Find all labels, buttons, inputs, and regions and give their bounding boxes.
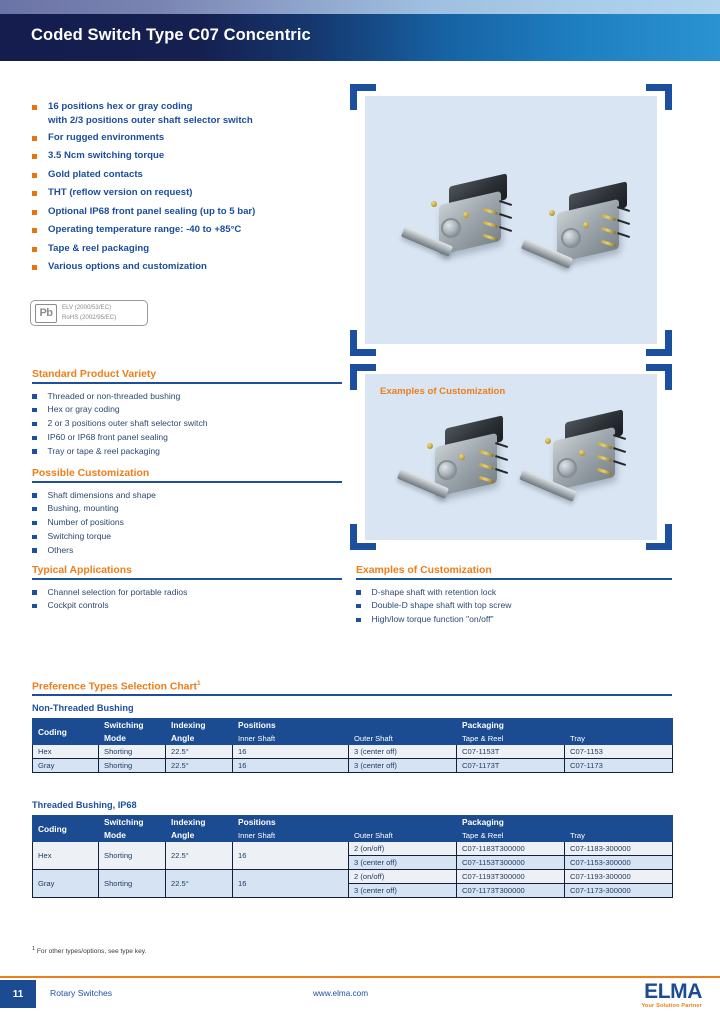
cell-switching-mode: Shorting bbox=[99, 759, 166, 773]
page-title: Coded Switch Type C07 Concentric bbox=[31, 26, 311, 45]
section-list-item: Double-D shape shaft with top screw bbox=[356, 599, 672, 612]
datasheet-page: Coded Switch Type C07 Concentric 16 posi… bbox=[0, 0, 720, 1012]
elma-logo: ELMA Your Solution Partner bbox=[641, 981, 702, 1009]
bullet-square-icon bbox=[32, 521, 37, 526]
cell-outer-shaft: 2 (on/off) bbox=[349, 870, 457, 884]
bullet-square-icon bbox=[32, 394, 37, 399]
feature-item: Tape & reel packaging bbox=[32, 242, 332, 258]
bullet-square-icon bbox=[356, 590, 361, 595]
col-switching-mode-line2: Mode bbox=[99, 732, 166, 745]
customization-photo-panel: Examples of Customization bbox=[350, 364, 672, 550]
feature-item: Various options and customization bbox=[32, 260, 332, 276]
col-outer-shaft: Outer Shaft bbox=[349, 732, 457, 745]
feature-label: THT (reflow version on request) bbox=[48, 186, 192, 200]
cell-tray: C07-1153-300000 bbox=[565, 856, 673, 870]
feature-label: 16 positions hex or gray coding bbox=[48, 101, 192, 112]
cell-indexing-angle: 22.5° bbox=[166, 870, 233, 898]
cell-tray: C07-1193-300000 bbox=[565, 870, 673, 884]
corner-bracket-icon bbox=[350, 364, 376, 390]
selection-chart-title-text: Preference Types Selection Chart bbox=[32, 681, 197, 692]
col-indexing-angle-line2: Angle bbox=[166, 732, 233, 745]
section-list-item: 2 or 3 positions outer shaft selector sw… bbox=[32, 417, 342, 430]
cell-tape-reel: C07-1153T bbox=[457, 745, 565, 759]
section-title: Possible Customization bbox=[32, 468, 342, 481]
selection-chart-header: Preference Types Selection Chart1 bbox=[32, 680, 672, 696]
col-tray: Tray bbox=[565, 732, 673, 745]
corner-bracket-icon bbox=[350, 524, 376, 550]
section-list-item: Cockpit controls bbox=[32, 599, 342, 612]
section-item-label: Cockpit controls bbox=[48, 599, 109, 612]
table-caption-non-threaded-bushing: Non-Threaded Bushing bbox=[32, 703, 134, 713]
section-title: Typical Applications bbox=[32, 565, 342, 578]
col-tape-reel: Tape & Reel bbox=[457, 829, 565, 842]
section-title: Examples of Customization bbox=[356, 565, 672, 578]
cell-coding: Hex bbox=[33, 745, 99, 759]
cell-tape-reel: C07-1153T300000 bbox=[457, 856, 565, 870]
section-item-label: Bushing, mounting bbox=[48, 502, 119, 515]
section-list-item: D-shape shaft with retention lock bbox=[356, 586, 672, 599]
cell-inner-shaft: 16 bbox=[233, 870, 349, 898]
feature-item: THT (reflow version on request) bbox=[32, 186, 332, 202]
feature-item: 16 positions hex or gray coding with 2/3… bbox=[32, 100, 332, 128]
bullet-square-icon bbox=[32, 535, 37, 540]
col-coding: Coding bbox=[33, 816, 99, 842]
section-list-item: Others bbox=[32, 544, 342, 557]
section-examples-of-customization: Examples of Customization D-shape shaft … bbox=[356, 565, 672, 627]
product-photo-panel bbox=[350, 84, 672, 356]
table-header-row: Coding Switching Indexing Positions Pack… bbox=[33, 719, 673, 732]
col-positions: Positions bbox=[233, 719, 457, 732]
bullet-square-icon bbox=[356, 604, 361, 609]
bullet-square-icon bbox=[32, 105, 37, 110]
section-item-label: Others bbox=[48, 544, 74, 557]
feature-label: 3.5 Ncm switching torque bbox=[48, 149, 164, 163]
cell-inner-shaft: 16 bbox=[233, 759, 349, 773]
section-item-label: D-shape shaft with retention lock bbox=[372, 586, 497, 599]
bullet-square-icon bbox=[32, 210, 37, 215]
section-item-label: Tray or tape & reel packaging bbox=[48, 445, 160, 458]
section-list-item: Shaft dimensions and shape bbox=[32, 489, 342, 502]
section-list-item: Switching torque bbox=[32, 530, 342, 543]
section-item-label: Threaded or non-threaded bushing bbox=[48, 390, 181, 403]
section-item-label: IP60 or IP68 front panel sealing bbox=[48, 431, 168, 444]
col-outer-shaft: Outer Shaft bbox=[349, 829, 457, 842]
section-rule bbox=[356, 578, 672, 580]
footer-website-url[interactable]: www.elma.com bbox=[313, 989, 368, 998]
section-standard-product-variety: Standard Product Variety Threaded or non… bbox=[32, 369, 342, 459]
footer-section-label: Rotary Switches bbox=[50, 988, 112, 998]
table-non-threaded-bushing: Coding Switching Indexing Positions Pack… bbox=[32, 718, 673, 773]
cell-tray: C07-1183-300000 bbox=[565, 842, 673, 856]
bullet-square-icon bbox=[32, 436, 37, 441]
cell-tray: C07-1173-300000 bbox=[565, 884, 673, 898]
compliance-badge: Pb ELV (2000/53/EC) RoHS (2002/95/EC) bbox=[30, 300, 148, 326]
bullet-square-icon bbox=[32, 265, 37, 270]
feature-label: Tape & reel packaging bbox=[48, 242, 149, 256]
footnote-text: For other types/options, see type key. bbox=[37, 948, 146, 955]
section-list-item: Hex or gray coding bbox=[32, 403, 342, 416]
table-threaded-bushing-ip68: Coding Switching Indexing Positions Pack… bbox=[32, 815, 673, 898]
cell-inner-shaft: 16 bbox=[233, 842, 349, 870]
bullet-square-icon bbox=[32, 507, 37, 512]
table-row: Hex Shorting 22.5° 16 2 (on/off) C07-118… bbox=[33, 842, 673, 856]
table-caption-threaded-bushing-ip68: Threaded Bushing, IP68 bbox=[32, 800, 137, 810]
section-item-label: Hex or gray coding bbox=[48, 403, 120, 416]
section-item-label: Number of positions bbox=[48, 516, 124, 529]
section-list-item: Bushing, mounting bbox=[32, 502, 342, 515]
section-item-label: Channel selection for portable radios bbox=[48, 586, 188, 599]
section-list-item: Tray or tape & reel packaging bbox=[32, 445, 342, 458]
feature-label: Operating temperature range: -40 to +85°… bbox=[48, 223, 241, 237]
cell-tray: C07-1153 bbox=[565, 745, 673, 759]
compliance-line-rohs: RoHS (2002/95/EC) bbox=[62, 313, 116, 323]
section-possible-customization: Possible Customization Shaft dimensions … bbox=[32, 468, 342, 558]
table-row: Gray Shorting 22.5° 16 3 (center off) C0… bbox=[33, 759, 673, 773]
feature-sublabel: with 2/3 positions outer shaft selector … bbox=[48, 114, 253, 128]
cell-outer-shaft: 3 (center off) bbox=[349, 745, 457, 759]
feature-label: For rugged environments bbox=[48, 131, 164, 145]
feature-item: For rugged environments bbox=[32, 131, 332, 147]
section-item-label: Double-D shape shaft with top screw bbox=[372, 599, 512, 612]
col-indexing-angle-line1: Indexing bbox=[166, 719, 233, 732]
bullet-square-icon bbox=[32, 493, 37, 498]
table-subheader-row: Mode Angle Inner Shaft Outer Shaft Tape … bbox=[33, 732, 673, 745]
footer-rule bbox=[0, 976, 720, 978]
cell-switching-mode: Shorting bbox=[99, 870, 166, 898]
feature-label: Gold plated contacts bbox=[48, 168, 143, 182]
cell-coding: Gray bbox=[33, 870, 99, 898]
bullet-square-icon bbox=[32, 136, 37, 141]
corner-bracket-icon bbox=[646, 84, 672, 110]
section-list-item: Number of positions bbox=[32, 516, 342, 529]
corner-bracket-icon bbox=[646, 330, 672, 356]
cell-outer-shaft: 3 (center off) bbox=[349, 856, 457, 870]
corner-bracket-icon bbox=[350, 84, 376, 110]
feature-item: 3.5 Ncm switching torque bbox=[32, 149, 332, 165]
bullet-square-icon bbox=[32, 590, 37, 595]
table-row: Gray Shorting 22.5° 16 2 (on/off) C07-11… bbox=[33, 870, 673, 884]
cell-indexing-angle: 22.5° bbox=[166, 842, 233, 870]
section-item-label: Switching torque bbox=[48, 530, 112, 543]
bullet-square-icon bbox=[356, 618, 361, 623]
bullet-square-icon bbox=[32, 247, 37, 252]
cell-indexing-angle: 22.5° bbox=[166, 745, 233, 759]
table-subheader-row: Mode Angle Inner Shaft Outer Shaft Tape … bbox=[33, 829, 673, 842]
col-packaging: Packaging bbox=[457, 719, 673, 732]
cell-tray: C07-1173 bbox=[565, 759, 673, 773]
col-packaging: Packaging bbox=[457, 816, 673, 829]
cell-switching-mode: Shorting bbox=[99, 745, 166, 759]
bullet-square-icon bbox=[32, 228, 37, 233]
bullet-square-icon bbox=[32, 604, 37, 609]
panel-caption: Examples of Customization bbox=[380, 386, 505, 397]
feature-item: Gold plated contacts bbox=[32, 168, 332, 184]
section-item-label: 2 or 3 positions outer shaft selector sw… bbox=[48, 417, 208, 430]
feature-item: Optional IP68 front panel sealing (up to… bbox=[32, 205, 332, 221]
bullet-square-icon bbox=[32, 449, 37, 454]
cell-tape-reel: C07-1173T bbox=[457, 759, 565, 773]
footnote-marker: 1 bbox=[32, 946, 35, 952]
cell-coding: Hex bbox=[33, 842, 99, 870]
compliance-line-elv: ELV (2000/53/EC) bbox=[62, 303, 116, 313]
section-list-item: High/low torque function "on/off" bbox=[356, 613, 672, 626]
page-number: 11 bbox=[0, 980, 36, 1008]
decorative-top-strip bbox=[0, 0, 720, 14]
col-tray: Tray bbox=[565, 829, 673, 842]
bullet-square-icon bbox=[32, 191, 37, 196]
elma-logo-text: ELMA bbox=[641, 981, 702, 1002]
col-switching-mode-line1: Switching bbox=[99, 719, 166, 732]
section-list-item: Channel selection for portable radios bbox=[32, 586, 342, 599]
chart-footnote: 1 For other types/options, see type key. bbox=[32, 946, 146, 955]
col-indexing-angle-line2: Angle bbox=[166, 829, 233, 842]
cell-coding: Gray bbox=[33, 759, 99, 773]
section-typical-applications: Typical Applications Channel selection f… bbox=[32, 565, 342, 613]
lead-free-pb-icon: Pb bbox=[35, 304, 57, 323]
feature-label: Various options and customization bbox=[48, 260, 207, 274]
cell-switching-mode: Shorting bbox=[99, 842, 166, 870]
feature-label: Optional IP68 front panel sealing (up to… bbox=[48, 205, 255, 219]
section-rule bbox=[32, 481, 342, 483]
bullet-square-icon bbox=[32, 548, 37, 553]
customization-photo-image bbox=[365, 374, 657, 540]
cell-tape-reel: C07-1193T300000 bbox=[457, 870, 565, 884]
section-title: Standard Product Variety bbox=[32, 369, 342, 382]
elma-logo-tagline: Your Solution Partner bbox=[641, 1003, 702, 1009]
cell-outer-shaft: 3 (center off) bbox=[349, 884, 457, 898]
col-switching-mode-line2: Mode bbox=[99, 829, 166, 842]
cell-outer-shaft: 3 (center off) bbox=[349, 759, 457, 773]
cell-indexing-angle: 22.5° bbox=[166, 759, 233, 773]
product-photo-image bbox=[365, 96, 657, 344]
corner-bracket-icon bbox=[646, 364, 672, 390]
bullet-square-icon bbox=[32, 173, 37, 178]
cell-tape-reel: C07-1183T300000 bbox=[457, 842, 565, 856]
compliance-text: ELV (2000/53/EC) RoHS (2002/95/EC) bbox=[62, 303, 116, 323]
selection-chart-title-footnote-marker: 1 bbox=[197, 680, 201, 687]
bullet-square-icon bbox=[32, 154, 37, 159]
col-inner-shaft: Inner Shaft bbox=[233, 829, 349, 842]
feature-item: Operating temperature range: -40 to +85°… bbox=[32, 223, 332, 239]
corner-bracket-icon bbox=[646, 524, 672, 550]
bullet-square-icon bbox=[32, 408, 37, 413]
section-list-item: Threaded or non-threaded bushing bbox=[32, 390, 342, 403]
section-item-label: High/low torque function "on/off" bbox=[372, 613, 494, 626]
selection-chart-title: Preference Types Selection Chart1 bbox=[32, 680, 672, 694]
col-coding: Coding bbox=[33, 719, 99, 745]
cell-tape-reel: C07-1173T300000 bbox=[457, 884, 565, 898]
table-header-row: Coding Switching Indexing Positions Pack… bbox=[33, 816, 673, 829]
section-item-label: Shaft dimensions and shape bbox=[48, 489, 156, 502]
corner-bracket-icon bbox=[350, 330, 376, 356]
col-tape-reel: Tape & Reel bbox=[457, 732, 565, 745]
section-list-item: IP60 or IP68 front panel sealing bbox=[32, 431, 342, 444]
cell-inner-shaft: 16 bbox=[233, 745, 349, 759]
cell-outer-shaft: 2 (on/off) bbox=[349, 842, 457, 856]
section-rule bbox=[32, 578, 342, 580]
col-switching-mode-line1: Switching bbox=[99, 816, 166, 829]
col-inner-shaft: Inner Shaft bbox=[233, 732, 349, 745]
feature-list: 16 positions hex or gray coding with 2/3… bbox=[32, 100, 332, 279]
selection-chart-rule bbox=[32, 694, 672, 696]
col-indexing-angle-line1: Indexing bbox=[166, 816, 233, 829]
section-rule bbox=[32, 382, 342, 384]
table-row: Hex Shorting 22.5° 16 3 (center off) C07… bbox=[33, 745, 673, 759]
col-positions: Positions bbox=[233, 816, 457, 829]
bullet-square-icon bbox=[32, 422, 37, 427]
